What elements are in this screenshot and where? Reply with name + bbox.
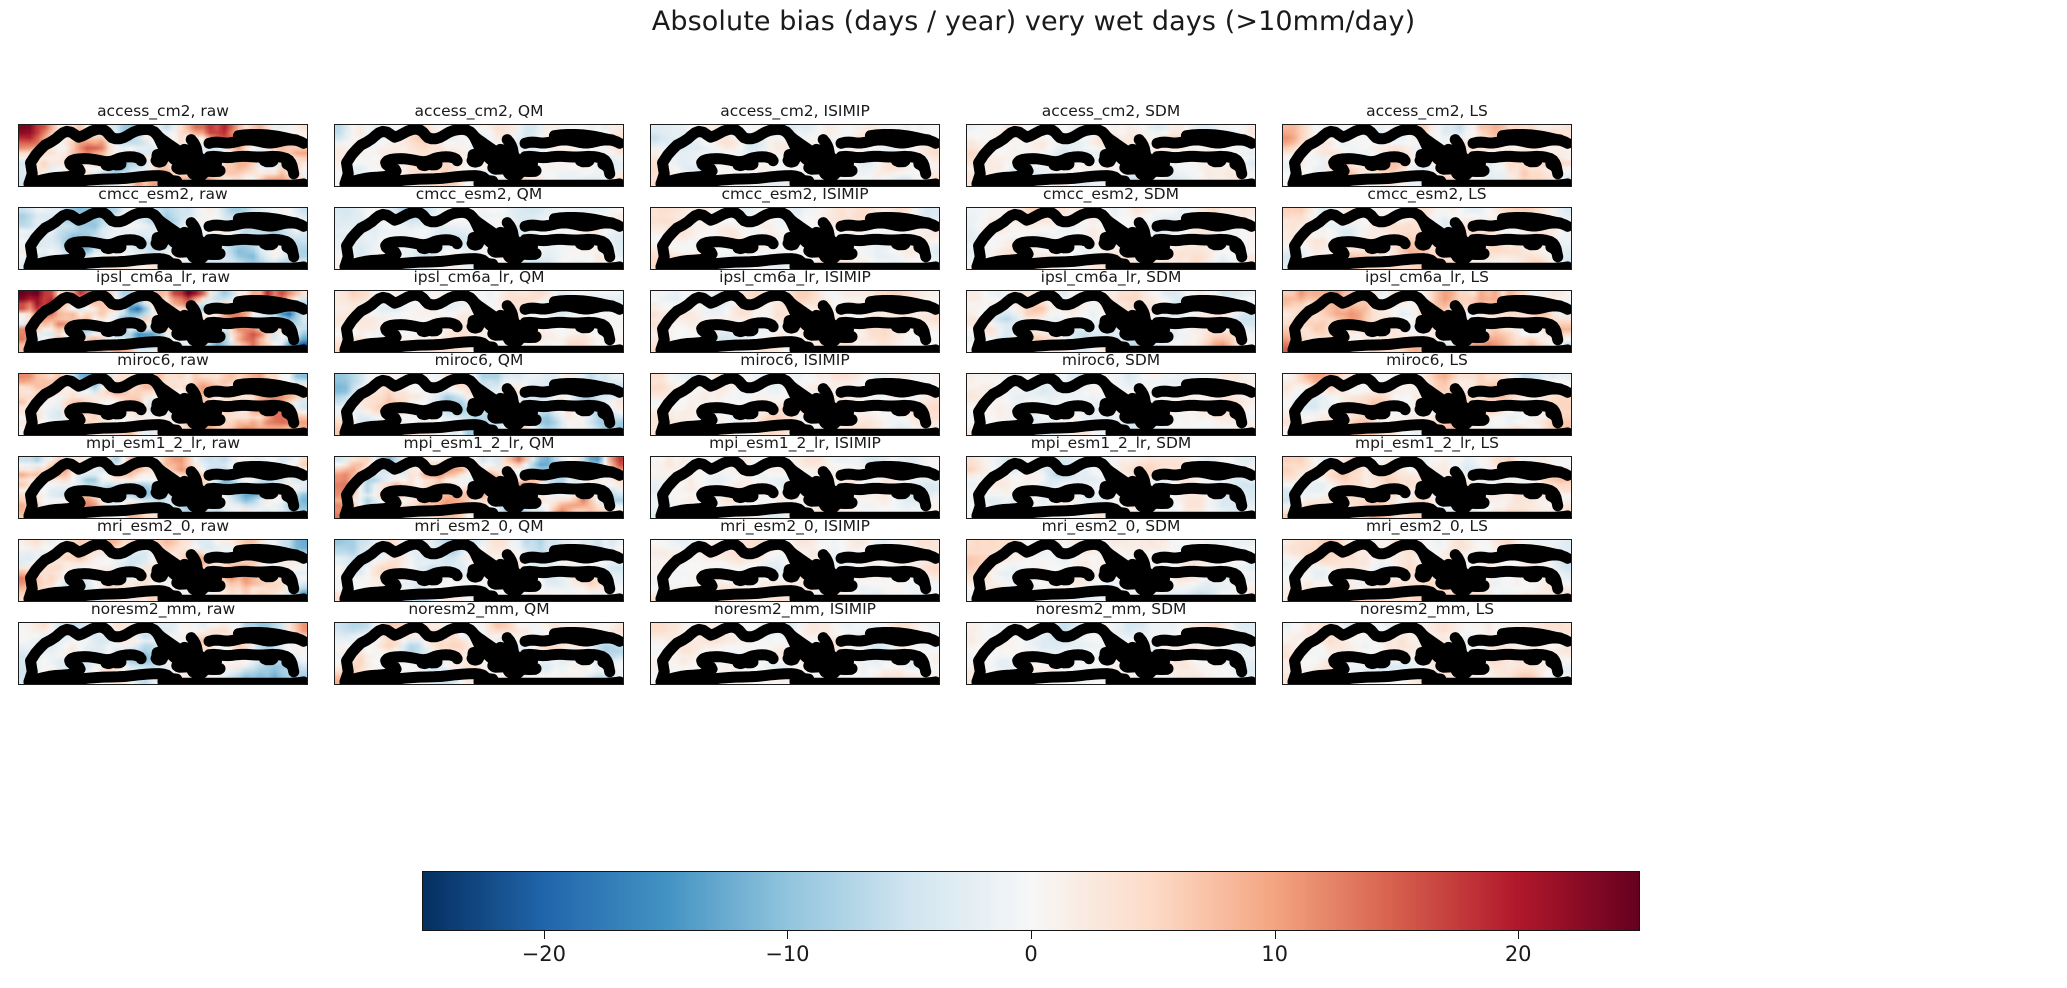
map-panel-miroc6-QM: miroc6, QM	[334, 352, 624, 436]
map-panel-mri_esm2_0-raw: mri_esm2_0, raw	[18, 518, 308, 602]
panel-map	[650, 124, 940, 187]
panel-title: access_cm2, QM	[334, 103, 624, 119]
colorbar-tick	[1031, 931, 1032, 939]
colorbar-tick	[544, 931, 545, 939]
coastline-overlay	[967, 540, 1255, 601]
panel-title: miroc6, raw	[18, 352, 308, 368]
colorbar: −20−1001020	[422, 871, 1640, 931]
panel-map	[334, 290, 624, 353]
map-panel-ipsl_cm6a_lr-LS: ipsl_cm6a_lr, LS	[1282, 269, 1572, 353]
coastline-overlay	[967, 457, 1255, 518]
panel-title: ipsl_cm6a_lr, QM	[334, 269, 624, 285]
coastline-overlay	[651, 623, 939, 684]
panel-title: ipsl_cm6a_lr, LS	[1282, 269, 1572, 285]
panel-title: noresm2_mm, QM	[334, 601, 624, 617]
map-panel-access_cm2-SDM: access_cm2, SDM	[966, 103, 1256, 187]
panel-title: mri_esm2_0, LS	[1282, 518, 1572, 534]
coastline-overlay	[335, 208, 623, 269]
panel-map	[18, 456, 308, 519]
colorbar-tick	[787, 931, 788, 939]
coastline-overlay	[1283, 291, 1571, 352]
panel-title: noresm2_mm, ISIMIP	[650, 601, 940, 617]
map-panel-access_cm2-QM: access_cm2, QM	[334, 103, 624, 187]
map-panel-noresm2_mm-LS: noresm2_mm, LS	[1282, 601, 1572, 685]
panel-map	[966, 456, 1256, 519]
panel-map	[18, 124, 308, 187]
coastline-overlay	[651, 291, 939, 352]
coastline-overlay	[967, 125, 1255, 186]
coastline-overlay	[19, 623, 307, 684]
coastline-overlay	[335, 291, 623, 352]
panel-map	[1282, 124, 1572, 187]
map-panel-mpi_esm1_2_lr-raw: mpi_esm1_2_lr, raw	[18, 435, 308, 519]
map-panel-cmcc_esm2-QM: cmcc_esm2, QM	[334, 186, 624, 270]
coastline-overlay	[651, 540, 939, 601]
panel-map	[1282, 622, 1572, 685]
coastline-overlay	[967, 208, 1255, 269]
panel-title: miroc6, SDM	[966, 352, 1256, 368]
coastline-overlay	[967, 623, 1255, 684]
map-panel-ipsl_cm6a_lr-raw: ipsl_cm6a_lr, raw	[18, 269, 308, 353]
map-panel-ipsl_cm6a_lr-QM: ipsl_cm6a_lr, QM	[334, 269, 624, 353]
map-panel-mpi_esm1_2_lr-SDM: mpi_esm1_2_lr, SDM	[966, 435, 1256, 519]
coastline-overlay	[19, 291, 307, 352]
panel-title: cmcc_esm2, raw	[18, 186, 308, 202]
panel-title: mri_esm2_0, raw	[18, 518, 308, 534]
coastline-overlay	[1283, 457, 1571, 518]
coastline-overlay	[1283, 623, 1571, 684]
map-panel-noresm2_mm-ISIMIP: noresm2_mm, ISIMIP	[650, 601, 940, 685]
panel-map	[650, 622, 940, 685]
coastline-overlay	[1283, 125, 1571, 186]
map-panel-mri_esm2_0-LS: mri_esm2_0, LS	[1282, 518, 1572, 602]
map-panel-noresm2_mm-SDM: noresm2_mm, SDM	[966, 601, 1256, 685]
map-panel-mri_esm2_0-QM: mri_esm2_0, QM	[334, 518, 624, 602]
panel-map	[334, 373, 624, 436]
map-panel-cmcc_esm2-raw: cmcc_esm2, raw	[18, 186, 308, 270]
coastline-overlay	[651, 374, 939, 435]
panel-title: access_cm2, LS	[1282, 103, 1572, 119]
coastline-overlay	[1283, 374, 1571, 435]
panel-title: mpi_esm1_2_lr, ISIMIP	[650, 435, 940, 451]
panel-map	[966, 124, 1256, 187]
panel-map	[1282, 539, 1572, 602]
colorbar-tick	[1518, 931, 1519, 939]
colorbar-canvas	[423, 872, 1639, 930]
panel-map	[1282, 207, 1572, 270]
panel-map	[334, 124, 624, 187]
colorbar-tick	[1275, 931, 1276, 939]
panel-map	[18, 622, 308, 685]
panel-title: cmcc_esm2, SDM	[966, 186, 1256, 202]
panel-map	[650, 373, 940, 436]
panel-map	[650, 290, 940, 353]
coastline-overlay	[19, 208, 307, 269]
panel-title: ipsl_cm6a_lr, SDM	[966, 269, 1256, 285]
panel-title: miroc6, LS	[1282, 352, 1572, 368]
panel-title: cmcc_esm2, QM	[334, 186, 624, 202]
colorbar-tick-label: 0	[1024, 942, 1037, 966]
map-panel-mpi_esm1_2_lr-QM: mpi_esm1_2_lr, QM	[334, 435, 624, 519]
coastline-overlay	[335, 457, 623, 518]
panel-title: mpi_esm1_2_lr, SDM	[966, 435, 1256, 451]
panel-map	[966, 373, 1256, 436]
map-panel-mri_esm2_0-SDM: mri_esm2_0, SDM	[966, 518, 1256, 602]
coastline-overlay	[651, 208, 939, 269]
panel-title: access_cm2, ISIMIP	[650, 103, 940, 119]
panel-title: mpi_esm1_2_lr, LS	[1282, 435, 1572, 451]
panel-title: noresm2_mm, raw	[18, 601, 308, 617]
colorbar-tick-label: 10	[1261, 942, 1288, 966]
panel-title: access_cm2, SDM	[966, 103, 1256, 119]
panel-map	[334, 539, 624, 602]
coastline-overlay	[1283, 208, 1571, 269]
map-panel-noresm2_mm-QM: noresm2_mm, QM	[334, 601, 624, 685]
panel-map	[966, 207, 1256, 270]
coastline-overlay	[651, 125, 939, 186]
panel-title: noresm2_mm, SDM	[966, 601, 1256, 617]
map-panel-access_cm2-ISIMIP: access_cm2, ISIMIP	[650, 103, 940, 187]
coastline-overlay	[335, 125, 623, 186]
colorbar-gradient	[422, 871, 1640, 931]
coastline-overlay	[19, 457, 307, 518]
coastline-overlay	[335, 374, 623, 435]
panel-title: cmcc_esm2, LS	[1282, 186, 1572, 202]
panel-map	[1282, 290, 1572, 353]
coastline-overlay	[19, 540, 307, 601]
panel-map	[1282, 456, 1572, 519]
panel-title: mpi_esm1_2_lr, raw	[18, 435, 308, 451]
panel-map	[966, 622, 1256, 685]
map-panel-cmcc_esm2-ISIMIP: cmcc_esm2, ISIMIP	[650, 186, 940, 270]
map-panel-miroc6-raw: miroc6, raw	[18, 352, 308, 436]
panel-map	[18, 207, 308, 270]
panel-map	[18, 373, 308, 436]
coastline-overlay	[335, 540, 623, 601]
panel-map	[18, 290, 308, 353]
panel-title: miroc6, ISIMIP	[650, 352, 940, 368]
panel-map	[18, 539, 308, 602]
panel-map	[650, 207, 940, 270]
map-panel-miroc6-ISIMIP: miroc6, ISIMIP	[650, 352, 940, 436]
map-panel-mpi_esm1_2_lr-LS: mpi_esm1_2_lr, LS	[1282, 435, 1572, 519]
colorbar-tick-label: −20	[522, 942, 566, 966]
coastline-overlay	[967, 374, 1255, 435]
coastline-overlay	[967, 291, 1255, 352]
panel-title: miroc6, QM	[334, 352, 624, 368]
map-panel-miroc6-SDM: miroc6, SDM	[966, 352, 1256, 436]
map-panel-miroc6-LS: miroc6, LS	[1282, 352, 1572, 436]
coastline-overlay	[335, 623, 623, 684]
map-panel-ipsl_cm6a_lr-SDM: ipsl_cm6a_lr, SDM	[966, 269, 1256, 353]
panel-title: access_cm2, raw	[18, 103, 308, 119]
panel-map	[966, 539, 1256, 602]
map-panel-mpi_esm1_2_lr-ISIMIP: mpi_esm1_2_lr, ISIMIP	[650, 435, 940, 519]
panel-title: noresm2_mm, LS	[1282, 601, 1572, 617]
figure-canvas: Absolute bias (days / year) very wet day…	[0, 0, 2067, 988]
map-panel-cmcc_esm2-LS: cmcc_esm2, LS	[1282, 186, 1572, 270]
panel-map	[334, 207, 624, 270]
panel-map	[966, 290, 1256, 353]
figure-title: Absolute bias (days / year) very wet day…	[0, 6, 2067, 37]
coastline-overlay	[19, 374, 307, 435]
panel-map	[1282, 373, 1572, 436]
map-panel-mri_esm2_0-ISIMIP: mri_esm2_0, ISIMIP	[650, 518, 940, 602]
map-panel-access_cm2-raw: access_cm2, raw	[18, 103, 308, 187]
colorbar-tick-label: −10	[765, 942, 809, 966]
map-panel-ipsl_cm6a_lr-ISIMIP: ipsl_cm6a_lr, ISIMIP	[650, 269, 940, 353]
panel-title: mri_esm2_0, SDM	[966, 518, 1256, 534]
panel-title: mri_esm2_0, ISIMIP	[650, 518, 940, 534]
map-panel-access_cm2-LS: access_cm2, LS	[1282, 103, 1572, 187]
panel-title: cmcc_esm2, ISIMIP	[650, 186, 940, 202]
panel-map	[650, 539, 940, 602]
coastline-overlay	[1283, 540, 1571, 601]
map-panel-cmcc_esm2-SDM: cmcc_esm2, SDM	[966, 186, 1256, 270]
map-panel-noresm2_mm-raw: noresm2_mm, raw	[18, 601, 308, 685]
panel-title: ipsl_cm6a_lr, raw	[18, 269, 308, 285]
panel-map	[334, 622, 624, 685]
colorbar-tick-label: 20	[1505, 942, 1532, 966]
panel-title: ipsl_cm6a_lr, ISIMIP	[650, 269, 940, 285]
coastline-overlay	[651, 457, 939, 518]
panel-title: mpi_esm1_2_lr, QM	[334, 435, 624, 451]
panel-title: mri_esm2_0, QM	[334, 518, 624, 534]
panel-map	[334, 456, 624, 519]
panel-map	[650, 456, 940, 519]
coastline-overlay	[19, 125, 307, 186]
